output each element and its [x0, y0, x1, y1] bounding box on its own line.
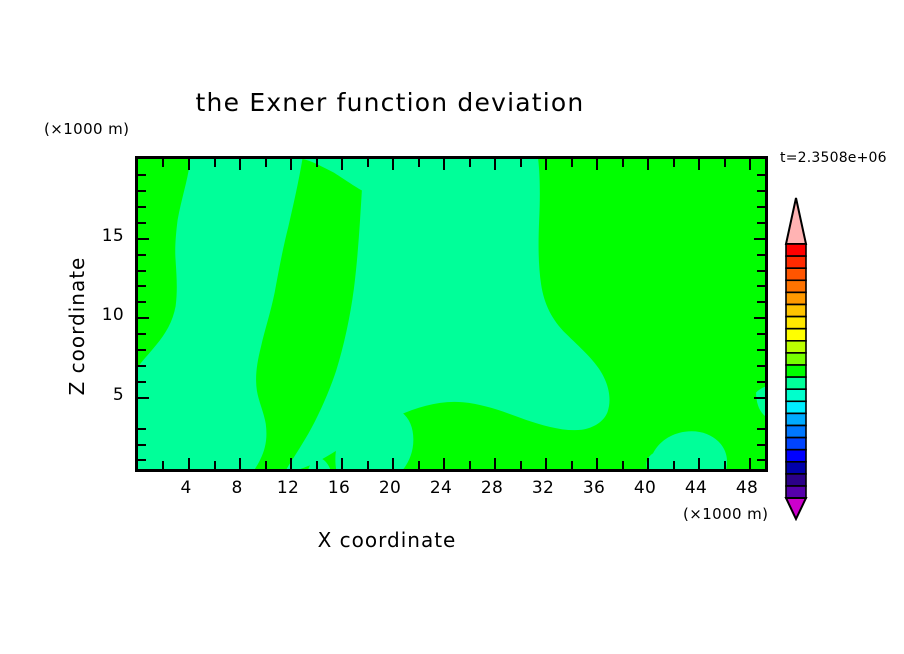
y-major-tick [138, 397, 149, 399]
plot-area [135, 156, 768, 472]
x-major-tick [647, 458, 649, 469]
colorbar-band [786, 389, 806, 401]
colorbar-band [786, 438, 806, 450]
colorbar-band [786, 426, 806, 438]
colorbar-over-arrow [786, 198, 806, 244]
colorbar-band [786, 341, 806, 353]
x-major-tick [239, 458, 241, 469]
x-major-tick [443, 458, 445, 469]
y-minor-tick-right [757, 222, 765, 224]
colorbar-swatches [783, 196, 809, 521]
timestamp-label: t=2.3508e+06 [780, 150, 887, 166]
x-minor-tick-top [418, 159, 420, 167]
x-axis-unit-label: (×1000 m) [683, 505, 768, 523]
y-tick-label: 5 [96, 385, 124, 405]
y-minor-tick [138, 206, 146, 208]
y-tick-label: 10 [96, 305, 124, 325]
y-minor-tick [138, 365, 146, 367]
x-tick-label: 20 [370, 478, 410, 498]
x-major-tick [545, 458, 547, 469]
x-tick-label: 28 [472, 478, 512, 498]
x-minor-tick-top [316, 159, 318, 167]
y-major-tick-right [754, 397, 765, 399]
colorbar-band [786, 365, 806, 377]
x-minor-tick [520, 461, 522, 469]
x-major-tick-top [188, 159, 190, 170]
x-major-tick-top [494, 159, 496, 170]
x-tick-label: 44 [676, 478, 716, 498]
colorbar-under-arrow [786, 498, 806, 519]
y-minor-tick [138, 444, 146, 446]
y-minor-tick [138, 381, 146, 383]
y-minor-tick [138, 222, 146, 224]
colorbar-band [786, 450, 806, 462]
y-minor-tick [138, 459, 146, 461]
contour-plot-figure: the Exner function deviation (×1000 m) t… [0, 0, 904, 654]
colorbar-band [786, 317, 806, 329]
y-minor-tick-right [757, 174, 765, 176]
y-minor-tick-right [757, 365, 765, 367]
x-minor-tick-top [673, 159, 675, 167]
x-minor-tick [214, 461, 216, 469]
x-minor-tick [673, 461, 675, 469]
colorbar-band [786, 244, 806, 256]
colorbar-band [786, 462, 806, 474]
x-tick-label: 16 [319, 478, 359, 498]
x-minor-tick [162, 461, 164, 469]
y-minor-tick [138, 285, 146, 287]
x-major-tick-top [647, 159, 649, 170]
colorbar-band [786, 353, 806, 365]
x-major-tick [749, 458, 751, 469]
y-minor-tick [138, 270, 146, 272]
y-axis-title: Z coordinate [65, 226, 89, 426]
x-minor-tick-top [265, 159, 267, 167]
y-minor-tick-right [757, 190, 765, 192]
colorbar-band [786, 329, 806, 341]
colorbar: 9e−4 6e−4 3e−4 0 −3e−4 −6e−4 −9e−4 [783, 196, 809, 521]
y-minor-tick [138, 428, 146, 430]
x-minor-tick-top [469, 159, 471, 167]
x-tick-label: 4 [166, 478, 206, 498]
x-minor-tick [469, 461, 471, 469]
x-tick-label: 8 [217, 478, 257, 498]
y-major-tick [138, 317, 149, 319]
x-major-tick-top [596, 159, 598, 170]
x-major-tick [494, 458, 496, 469]
colorbar-band [786, 401, 806, 413]
y-minor-tick-right [757, 270, 765, 272]
x-major-tick [392, 458, 394, 469]
y-minor-tick-right [757, 444, 765, 446]
x-major-tick-top [341, 159, 343, 170]
colorbar-band [786, 268, 806, 280]
x-minor-tick-top [214, 159, 216, 167]
x-tick-label: 48 [727, 478, 767, 498]
contour-field [138, 159, 765, 469]
colorbar-band [786, 292, 806, 304]
x-minor-tick [265, 461, 267, 469]
x-tick-label: 32 [523, 478, 563, 498]
y-minor-tick-right [757, 301, 765, 303]
x-major-tick [698, 458, 700, 469]
y-minor-tick-right [757, 381, 765, 383]
y-minor-tick-right [757, 206, 765, 208]
y-minor-tick-right [757, 428, 765, 430]
y-minor-tick-right [757, 349, 765, 351]
y-minor-tick-right [757, 285, 765, 287]
x-major-tick [341, 458, 343, 469]
x-axis-title: X coordinate [0, 528, 904, 552]
y-major-tick-right [754, 238, 765, 240]
x-minor-tick [724, 461, 726, 469]
x-minor-tick-top [571, 159, 573, 167]
y-minor-tick [138, 301, 146, 303]
colorbar-band [786, 474, 806, 486]
x-tick-label: 40 [625, 478, 665, 498]
colorbar-band [786, 377, 806, 389]
x-minor-tick-top [724, 159, 726, 167]
x-minor-tick-top [520, 159, 522, 167]
x-major-tick-top [443, 159, 445, 170]
colorbar-band [786, 486, 806, 498]
x-major-tick-top [392, 159, 394, 170]
y-major-tick [138, 238, 149, 240]
x-minor-tick-top [622, 159, 624, 167]
x-major-tick-top [749, 159, 751, 170]
colorbar-band [786, 413, 806, 425]
y-major-tick-right [754, 317, 765, 319]
y-minor-tick [138, 254, 146, 256]
y-minor-tick [138, 333, 146, 335]
x-minor-tick [418, 461, 420, 469]
x-major-tick-top [239, 159, 241, 170]
x-major-tick [290, 458, 292, 469]
y-minor-tick-right [757, 459, 765, 461]
x-major-tick-top [290, 159, 292, 170]
y-minor-tick [138, 190, 146, 192]
x-minor-tick [622, 461, 624, 469]
x-minor-tick-top [367, 159, 369, 167]
colorbar-band [786, 305, 806, 317]
x-major-tick-top [545, 159, 547, 170]
y-minor-tick-right [757, 333, 765, 335]
y-axis-unit-label: (×1000 m) [44, 120, 129, 138]
x-minor-tick [571, 461, 573, 469]
x-tick-label: 12 [268, 478, 308, 498]
page-title: the Exner function deviation [0, 88, 780, 117]
x-minor-tick-top [162, 159, 164, 167]
x-tick-label: 24 [421, 478, 461, 498]
colorbar-band [786, 256, 806, 268]
x-major-tick-top [698, 159, 700, 170]
y-minor-tick-right [757, 254, 765, 256]
colorbar-band [786, 280, 806, 292]
y-tick-label: 15 [96, 226, 124, 246]
x-major-tick [596, 458, 598, 469]
x-minor-tick [367, 461, 369, 469]
y-minor-tick [138, 349, 146, 351]
x-minor-tick [316, 461, 318, 469]
x-tick-label: 36 [574, 478, 614, 498]
y-minor-tick [138, 174, 146, 176]
x-major-tick [188, 458, 190, 469]
